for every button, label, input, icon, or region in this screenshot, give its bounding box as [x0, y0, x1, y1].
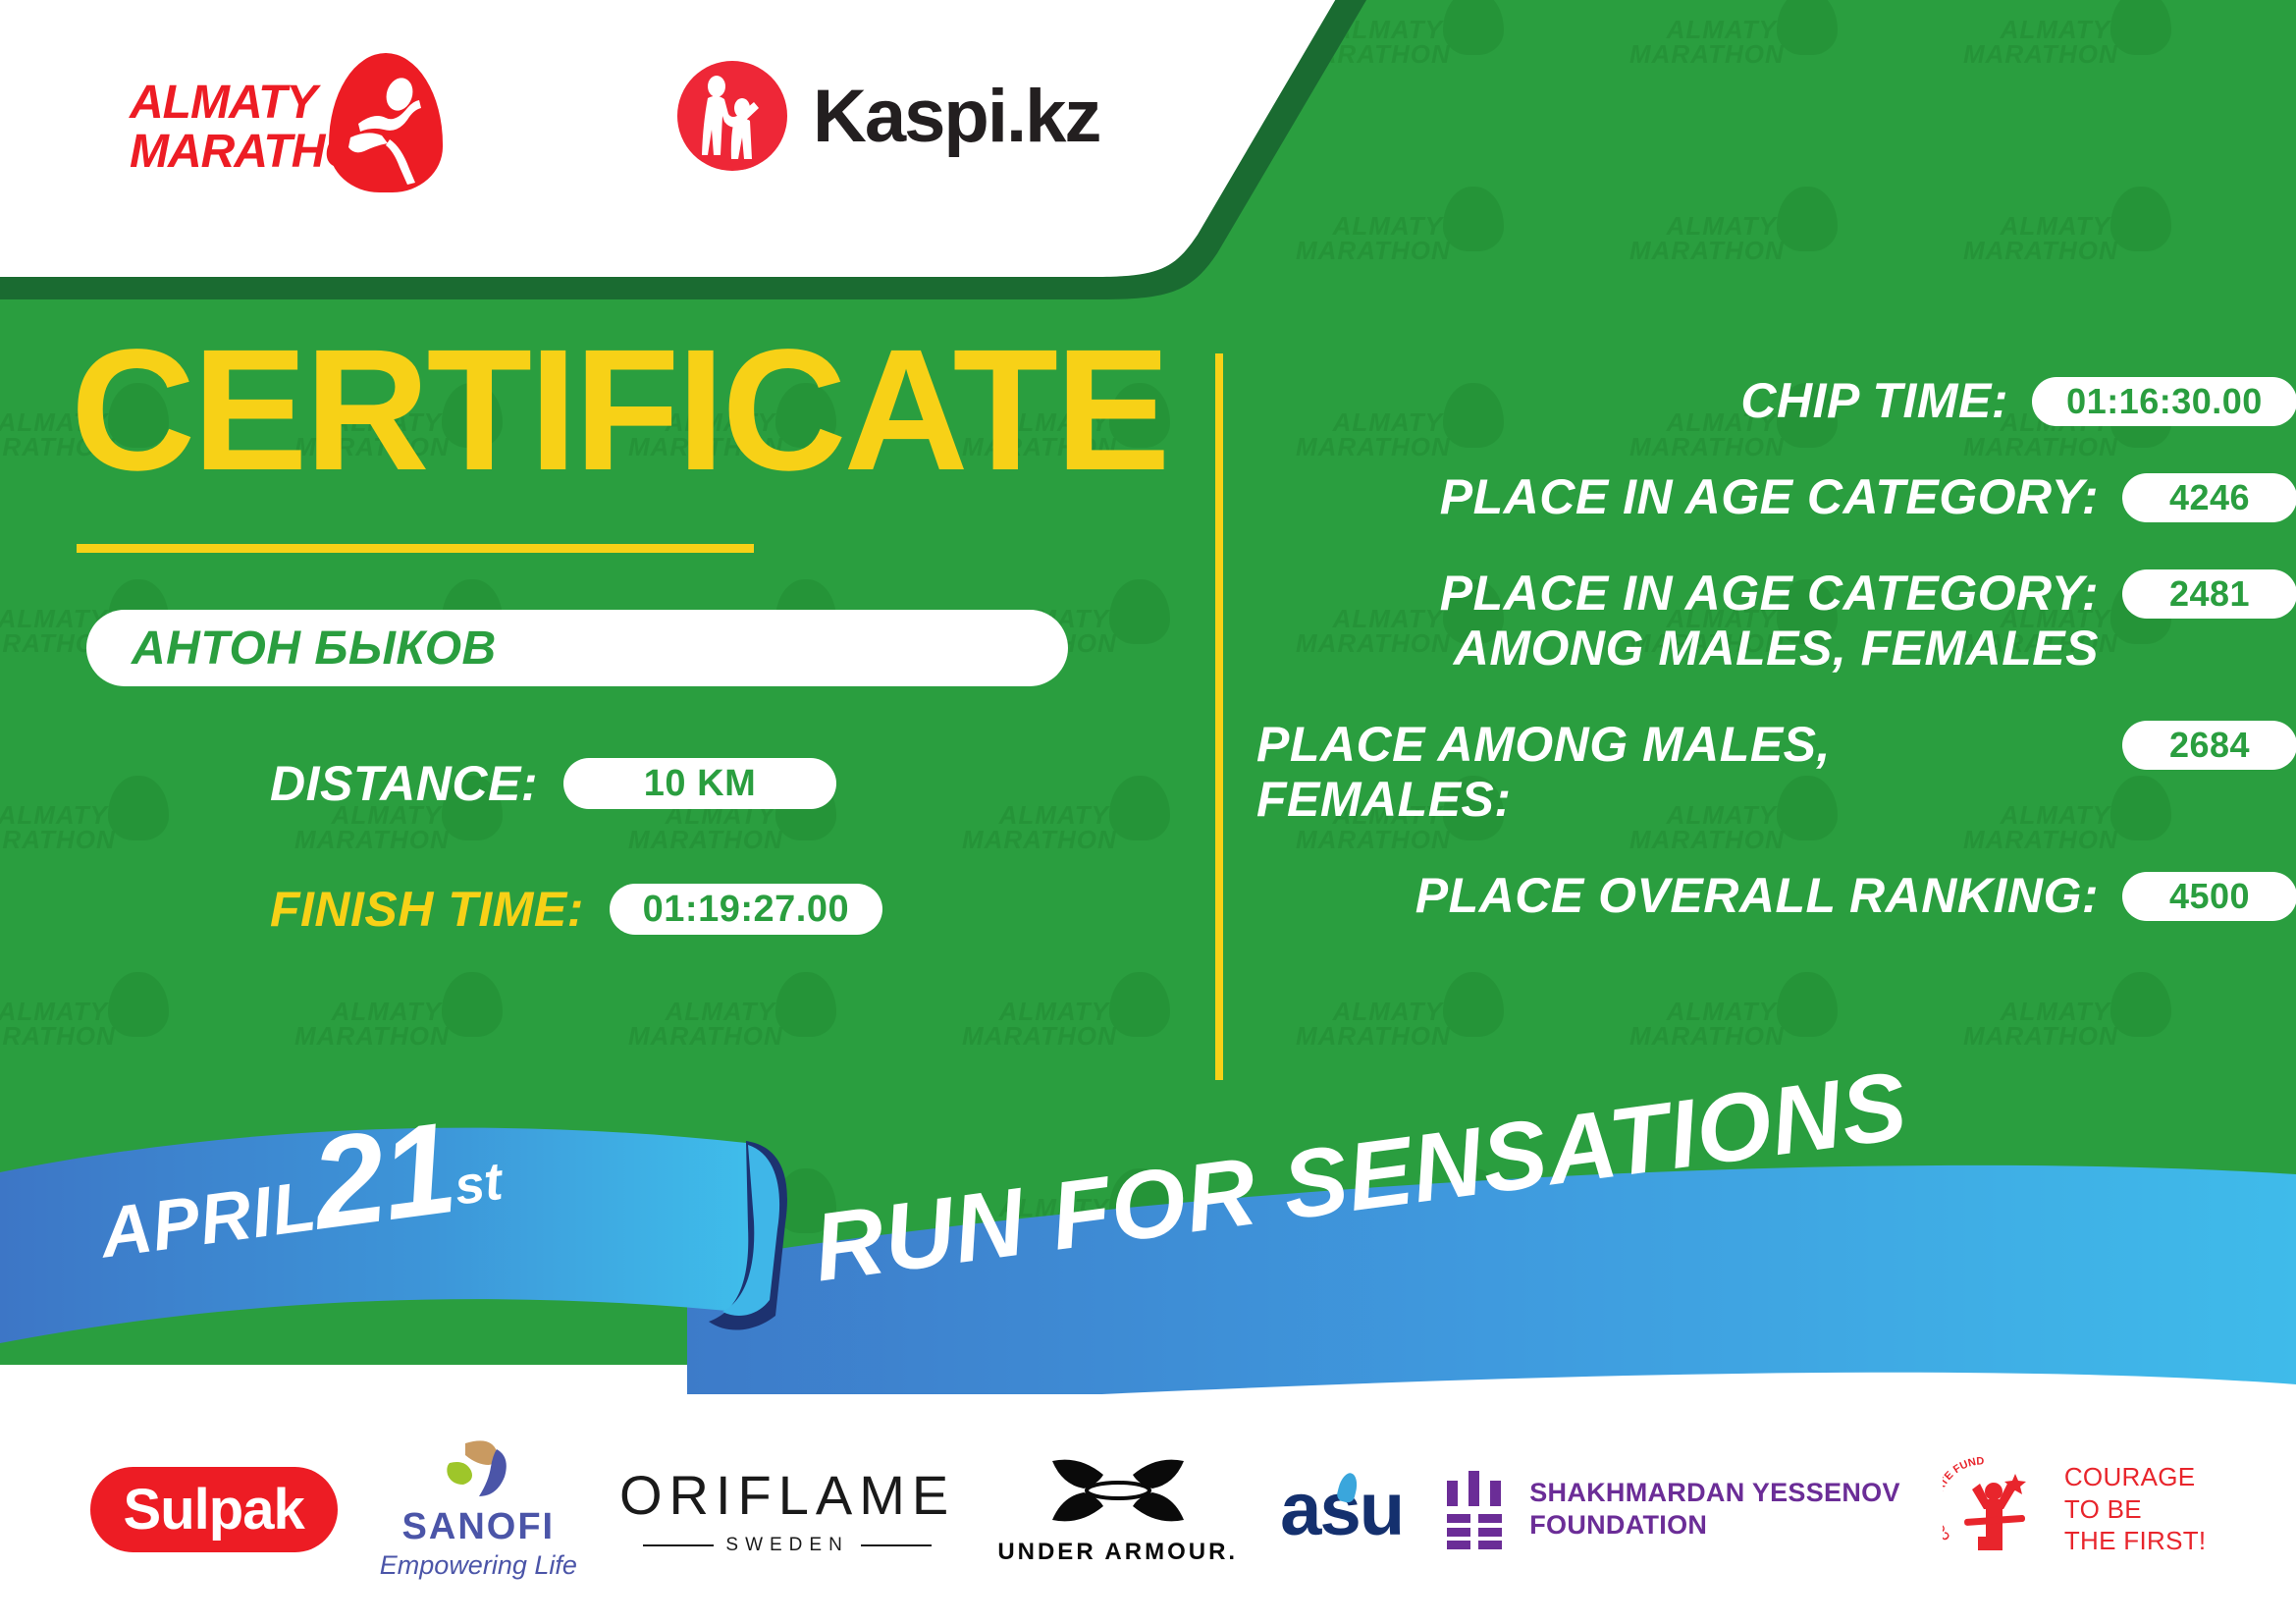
result-row: CHIP TIME: 01:16:30.00: [1256, 373, 2296, 428]
distance-label: DISTANCE:: [270, 755, 538, 812]
event-day: 21: [304, 1095, 462, 1256]
sponsor-bar: Sulpak SANOFI Empowering Life ORIFLAME S…: [0, 1394, 2296, 1624]
certificate-canvas: ALMATYMARATHONALMATYMARATHONALMATYMARATH…: [0, 0, 2296, 1624]
watermark-text: ALMATYMARATHON: [294, 1000, 442, 1048]
sponsor-asu-label: asu: [1280, 1467, 1403, 1552]
finish-time-label: FINISH TIME:: [270, 881, 584, 938]
rule-left: [643, 1544, 714, 1546]
result-value: 2684: [2122, 721, 2296, 770]
courage-line-2: TO BE: [2064, 1493, 2207, 1526]
watermark-text: ALMATYMARATHON: [1629, 18, 1777, 66]
watermark-text: ALMATYMARATHON: [1963, 18, 2110, 66]
sponsor-sanofi-logo: SANOFI Empowering Life: [380, 1437, 577, 1581]
kaspi-logo: Kaspi.kz: [677, 61, 1099, 171]
watermark-text: ALMATYMARATHON: [1963, 214, 2110, 262]
sponsor-under-armour-logo: UNDER ARMOUR.: [997, 1453, 1238, 1566]
sponsor-oriflame-logo: ORIFLAME SWEDEN: [619, 1463, 955, 1556]
courage-line-3: THE FIRST!: [2064, 1525, 2207, 1557]
watermark-text: ALMATYMARATHON: [0, 1000, 108, 1048]
sponsor-courage-label: COURAGE TO BE THE FIRST!: [2064, 1461, 2207, 1557]
watermark-drop-icon: [442, 972, 503, 1037]
sponsor-courage-logo: CORPORATE FUND COURAGE TO BE THE FIRST!: [1943, 1456, 2207, 1563]
watermark-drop-icon: [1109, 972, 1170, 1037]
watermark-text: ALMATYMARATHON: [628, 1000, 775, 1048]
runner-name-value: АНТОН БЫКОВ: [132, 622, 497, 676]
watermark-text: ALMATYMARATHON: [962, 1000, 1109, 1048]
kaspi-wordmark: Kaspi.kz: [813, 74, 1099, 159]
yessenov-line-1: SHAKHMARDAN YESSENOV: [1529, 1477, 1900, 1509]
title-divider: [77, 544, 754, 553]
watermark-drop-icon: [108, 972, 169, 1037]
sponsor-sulpak-label: Sulpak: [124, 1477, 304, 1543]
sanofi-leaf-logo: [436, 1437, 520, 1502]
result-value: 2481: [2122, 569, 2296, 619]
watermark-drop-icon: [1443, 0, 1504, 55]
under-armour-logo: [1044, 1453, 1192, 1533]
result-label: CHIP TIME:: [1256, 373, 2032, 428]
result-row: PLACE IN AGE CATEGORY: 4246: [1256, 469, 2296, 524]
running-figure-drop-icon: [329, 53, 443, 192]
event-month: APRIL: [96, 1166, 322, 1272]
watermark-drop-icon: [1777, 972, 1838, 1037]
watermark-text: ALMATYMARATHON: [1629, 1000, 1777, 1048]
watermark-drop-icon: [1443, 187, 1504, 251]
sponsor-yessenov-label: SHAKHMARDAN YESSENOV FOUNDATION: [1529, 1477, 1900, 1542]
result-label: PLACE IN AGE CATEGORY: AMONG MALES, FEMA…: [1256, 566, 2122, 676]
yessenov-bars-logo: [1445, 1469, 1506, 1549]
asu-droplet-logo: [1336, 1471, 1361, 1503]
watermark-drop-icon: [2110, 972, 2171, 1037]
result-value: 01:16:30.00: [2032, 377, 2296, 426]
distance-row: DISTANCE: 10 KM: [270, 755, 1188, 812]
sponsor-yessenov-logo: SHAKHMARDAN YESSENOV FOUNDATION: [1445, 1469, 1900, 1549]
sponsor-asu-logo: asu: [1280, 1467, 1403, 1552]
result-row: PLACE OVERALL RANKING: 4500: [1256, 868, 2296, 923]
left-column: CERTIFICATE АНТОН БЫКОВ DISTANCE: 10 KM …: [0, 324, 1188, 938]
result-row: PLACE IN AGE CATEGORY: AMONG MALES, FEMA…: [1256, 566, 2296, 676]
page-title: CERTIFICATE: [71, 324, 1188, 497]
distance-value: 10 KM: [563, 758, 836, 809]
watermark-drop-icon: [1443, 972, 1504, 1037]
rule-right: [861, 1544, 932, 1546]
sponsor-sulpak-logo: Sulpak: [90, 1467, 338, 1552]
result-label: PLACE OVERALL RANKING:: [1256, 868, 2122, 923]
sponsor-sanofi-label: SANOFI: [402, 1506, 556, 1548]
runner-name-field: АНТОН БЫКОВ: [86, 610, 1068, 686]
sponsor-oriflame-tagline: SWEDEN: [725, 1535, 848, 1556]
result-label: PLACE IN AGE CATEGORY:: [1256, 469, 2122, 524]
watermark-drop-icon: [2110, 0, 2171, 55]
sponsor-oriflame-tagline-row: SWEDEN: [643, 1535, 931, 1556]
result-row: PLACE AMONG MALES, FEMALES: 2684: [1256, 717, 2296, 827]
result-value: 4500: [2122, 872, 2296, 921]
sponsor-sanofi-tagline: Empowering Life: [380, 1550, 577, 1581]
kaspi-family-circle-icon: [677, 61, 787, 171]
header: ALMATY MARATHON: [0, 0, 1374, 295]
watermark-text: ALMATYMARATHON: [1629, 214, 1777, 262]
event-day-suffix: st: [452, 1152, 506, 1217]
yessenov-line-2: FOUNDATION: [1529, 1509, 1900, 1542]
courage-line-1: COURAGE: [2064, 1461, 2207, 1493]
watermark-drop-icon: [2110, 187, 2171, 251]
courage-figure-logo: CORPORATE FUND: [1943, 1456, 2045, 1563]
results-column: CHIP TIME: 01:16:30.00 PLACE IN AGE CATE…: [1256, 373, 2296, 964]
watermark-drop-icon: [775, 972, 836, 1037]
result-value: 4246: [2122, 473, 2296, 522]
finish-time-row: FINISH TIME: 01:19:27.00: [270, 881, 1188, 938]
finish-time-value: 01:19:27.00: [610, 884, 882, 935]
watermark-text: ALMATYMARATHON: [1296, 1000, 1443, 1048]
watermark-drop-icon: [1777, 0, 1838, 55]
column-divider: [1215, 353, 1223, 1080]
sponsor-oriflame-label: ORIFLAME: [619, 1463, 955, 1527]
sponsor-under-armour-label: UNDER ARMOUR.: [997, 1539, 1238, 1566]
result-label: PLACE AMONG MALES, FEMALES:: [1256, 717, 2122, 827]
watermark-text: ALMATYMARATHON: [1963, 1000, 2110, 1048]
watermark-drop-icon: [1777, 187, 1838, 251]
almaty-marathon-logo: ALMATY MARATHON: [130, 51, 444, 189]
